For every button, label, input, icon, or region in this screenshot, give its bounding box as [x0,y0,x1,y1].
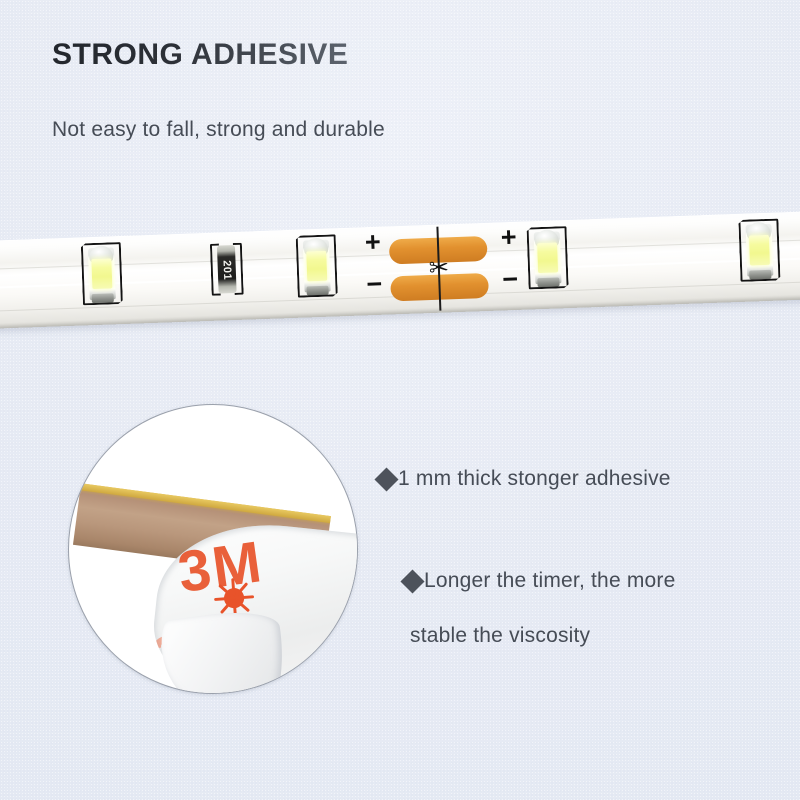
led-pad-outline [296,234,338,297]
led-pad-outline [738,219,780,282]
resistor-pad-outline [210,243,244,296]
list-item: Longer the timer, the more [404,568,794,594]
polarity-plus-right: + [500,224,517,252]
heading-block: STRONG ADHESIVE [52,38,348,71]
diamond-bullet-icon [400,570,424,594]
product-infographic: STRONG ADHESIVE Not easy to fall, strong… [0,0,800,800]
resistor-component: 201 [210,243,244,296]
adhesive-liner-curl [158,605,292,694]
page-title: STRONG ADHESIVE [52,38,348,71]
polarity-plus-left: + [364,229,381,257]
bullet-text: Longer the timer, the more [424,568,676,594]
led-component [296,234,338,297]
led-pad-outline [81,242,123,305]
adhesive-closeup-photo: 3M 3M [68,404,358,694]
scissors-icon: ✂ [421,254,456,283]
led-pad-outline [526,226,568,289]
feature-bullet-list: 1 mm thick stonger adhesive Longer the t… [378,466,794,595]
list-item: 1 mm thick stonger adhesive [378,466,794,492]
cut-point-zone: ✂ [382,223,495,315]
led-component [81,242,123,305]
led-component [526,226,568,289]
led-component [738,219,780,282]
page-subtitle: Not easy to fall, strong and durable [52,118,385,142]
polarity-minus-left: − [366,271,383,299]
bullet-text: 1 mm thick stonger adhesive [398,466,671,492]
diamond-bullet-icon [374,467,398,491]
bullet-text-continuation: stable the viscosity [410,624,590,648]
polarity-minus-right: − [502,266,519,294]
